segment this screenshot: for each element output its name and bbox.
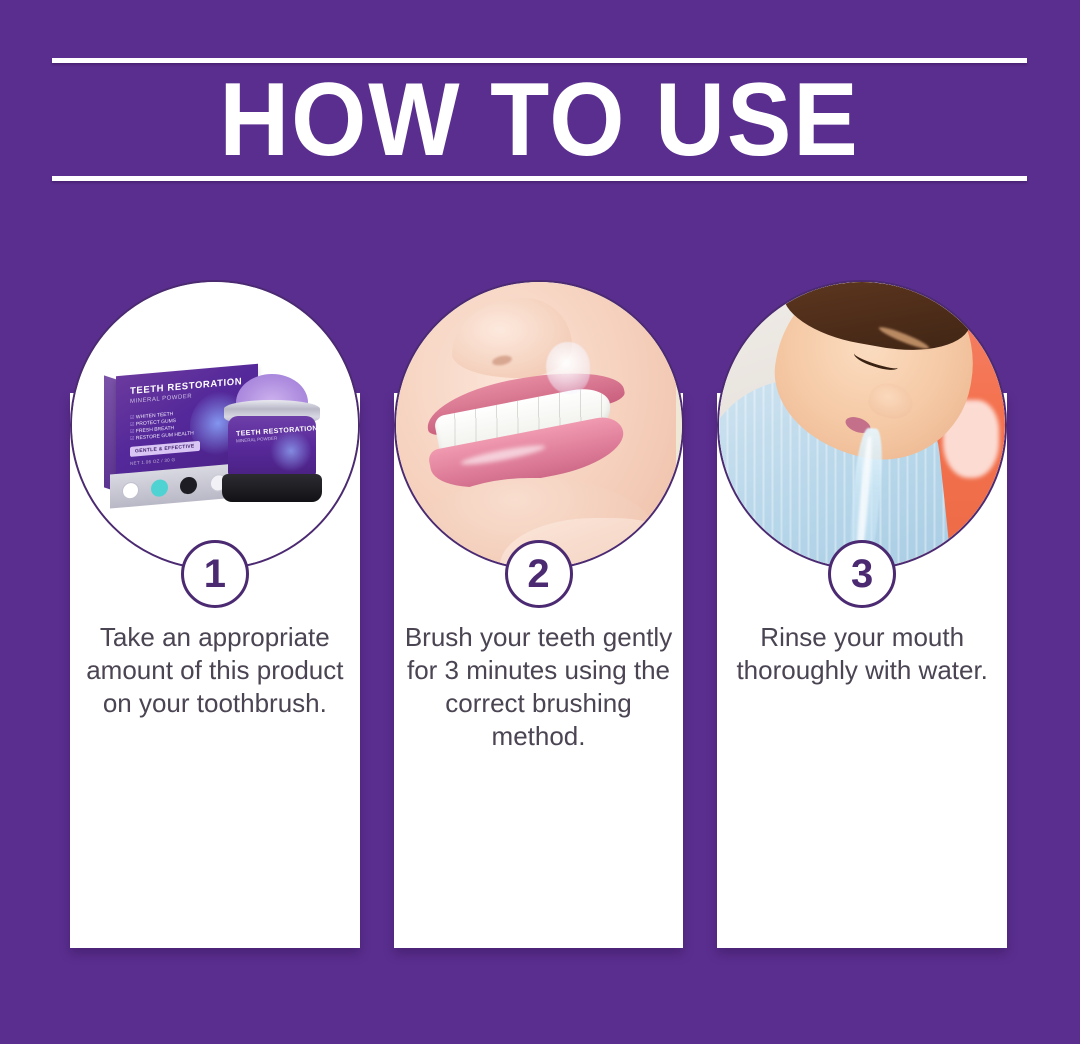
- product-net-weight: NET 1.06 OZ / 30 G: [130, 457, 175, 466]
- brushing-photo: [396, 282, 682, 568]
- feature-icon-1: [122, 481, 139, 499]
- jar-body: TEETH RESTORATION MINERAL POWDER: [228, 416, 316, 478]
- step-number-badge-3: 3: [828, 540, 896, 608]
- step-number-badge-2: 2: [505, 540, 573, 608]
- steps-container: TEETH RESTORATION MINERAL POWDER WHITEN …: [70, 393, 1007, 948]
- product-scene: TEETH RESTORATION MINERAL POWDER WHITEN …: [72, 282, 358, 568]
- step-2-photo-ring: [394, 280, 684, 570]
- step-number-badge-1: 1: [181, 540, 249, 608]
- feature-icon-2: [151, 478, 168, 496]
- step-3-photo-ring: [717, 280, 1007, 570]
- step-caption-1: Take an appropriate amount of this produ…: [78, 621, 352, 720]
- page-title: HOW TO USE: [86, 64, 993, 176]
- product-badge: GENTLE & EFFECTIVE: [130, 441, 200, 457]
- rinse-scene: [719, 282, 1005, 568]
- product-box-bullets: WHITEN TEETH PROTECT GUMS FRESH BREATH R…: [130, 409, 194, 443]
- step-caption-3: Rinse your mouth thoroughly with water.: [725, 621, 999, 687]
- step-card-1: TEETH RESTORATION MINERAL POWDER WHITEN …: [70, 393, 360, 948]
- header-banner: HOW TO USE: [52, 50, 1027, 190]
- step-card-3: 3 Rinse your mouth thoroughly with water…: [717, 393, 1007, 948]
- mouth-scene: [396, 282, 682, 568]
- step-card-2: 2 Brush your teeth gently for 3 minutes …: [394, 393, 684, 948]
- product-photo: TEETH RESTORATION MINERAL POWDER WHITEN …: [72, 282, 358, 568]
- step-1-photo-ring: TEETH RESTORATION MINERAL POWDER WHITEN …: [70, 280, 360, 570]
- rinsing-photo: [719, 282, 1005, 568]
- feature-icon-3: [180, 476, 197, 494]
- toothpaste-foam: [546, 342, 590, 394]
- jar-base: [222, 474, 322, 502]
- header-rule-bottom: [52, 176, 1027, 181]
- product-jar: TEETH RESTORATION MINERAL POWDER: [218, 378, 326, 508]
- step-caption-2: Brush your teeth gently for 3 minutes us…: [402, 621, 676, 753]
